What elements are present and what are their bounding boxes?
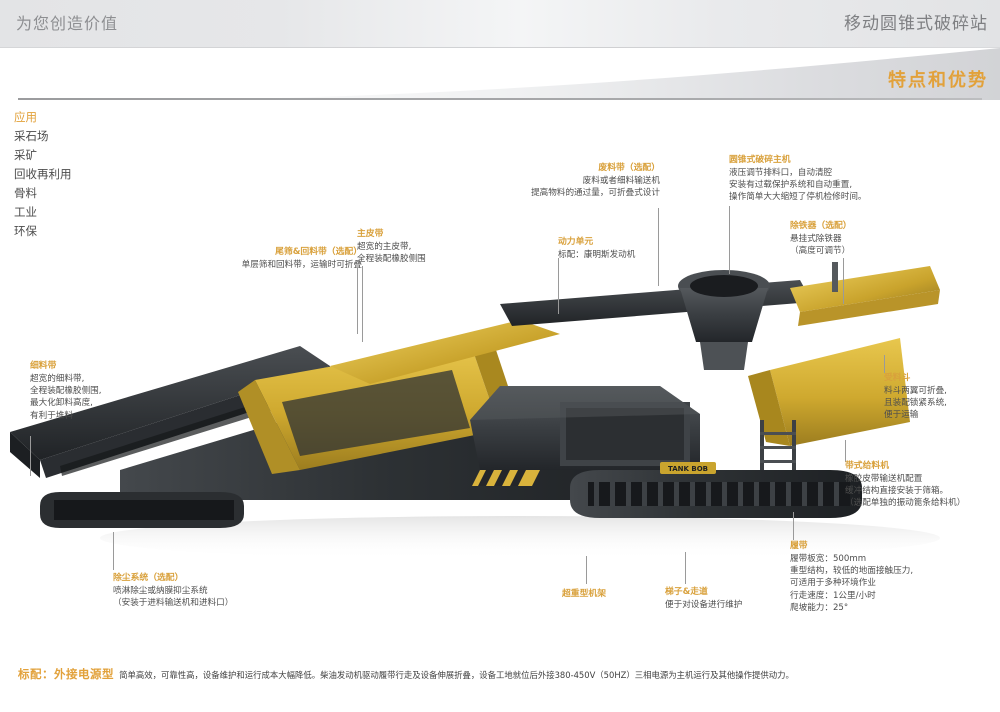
application-item-environment: 环保: [14, 222, 174, 241]
callout-tail-screen-line-1: 单层筛和回料带，运输时可折叠: [150, 259, 362, 271]
callout-track: 履带 履带板宽：500mm 重型结构，较低的地面接触压力, 可适用于多种环境作业…: [790, 540, 990, 614]
callout-waste-belt-line-1: 废料或者细料输送机: [448, 175, 660, 187]
iron-remover-graphic: [790, 262, 940, 326]
callout-fine-belt-line-4: 有利于堆料: [30, 410, 170, 422]
callout-dust-system: 除尘系统（选配） 喷淋除尘或纳膜抑尘系统 （安装于进料输送机和进料口）: [113, 572, 313, 609]
callout-power-unit-line-1: 标配：康明斯发动机: [558, 249, 708, 261]
screen-box-graphic: [238, 338, 520, 474]
watermark-text: www.tankbob.com: [173, 439, 266, 475]
footer-strong-label: 标配：外接电源型: [18, 667, 114, 681]
brand-badge-text: TANK BOB: [668, 465, 708, 473]
callout-fine-belt-title: 细料带: [30, 360, 170, 373]
callout-fine-belt-line-2: 全程装配橡胶侧围,: [30, 385, 170, 397]
callout-receiving-hopper-line-3: 便于运输: [884, 409, 1000, 421]
leader-line-frame: [586, 556, 587, 584]
callout-fine-belt: 细料带 超宽的细料带, 全程装配橡胶侧围, 最大化卸料高度, 有利于堆料: [30, 360, 170, 422]
hazard-stripe-graphic: [472, 470, 540, 486]
callout-receiving-hopper-title: 受料斗: [884, 372, 1000, 385]
applications-list: 应用 采石场 采矿 回收再利用 骨料 工业 环保: [14, 108, 174, 241]
callout-heavy-duty-frame-title: 超重型机架: [562, 588, 662, 601]
callout-track-line-3: 可适用于多种环境作业: [790, 577, 990, 589]
header-swoosh-decoration: [0, 48, 1000, 100]
callout-power-unit-title: 动力单元: [558, 236, 708, 249]
application-item-aggregate: 骨料: [14, 184, 174, 203]
callout-iron-remover: 除铁器（选配） 悬挂式除铁器 （高度可调节）: [790, 220, 970, 257]
callout-heavy-duty-frame: 超重型机架: [562, 588, 662, 601]
callout-main-belt-title: 主皮带: [357, 228, 497, 241]
chassis-graphic: [120, 416, 700, 500]
callout-dust-system-line-2: （安装于进料输送机和进料口）: [113, 597, 313, 609]
callout-fine-belt-line-1: 超宽的细料带,: [30, 373, 170, 385]
application-item-mining: 采矿: [14, 146, 174, 165]
callout-main-belt-line-2: 全程装配橡胶侧围: [357, 253, 497, 265]
callout-track-line-1: 履带板宽：500mm: [790, 553, 990, 565]
application-item-industry: 工业: [14, 203, 174, 222]
callout-cone-crusher-title: 圆锥式破碎主机: [729, 154, 959, 167]
callout-receiving-hopper-line-2: 且装配锁紧系统,: [884, 397, 1000, 409]
power-unit-graphic: [470, 386, 700, 470]
callout-ladder-walkway: 梯子&走道 便于对设备进行维护: [665, 586, 805, 611]
callout-track-title: 履带: [790, 540, 990, 553]
leader-line-track: [793, 512, 794, 540]
leader-line-tail-screen: [362, 266, 363, 342]
callout-cone-crusher-line-2: 安装有过载保护系统和自动重置,: [729, 179, 959, 191]
leader-line-dust-system: [113, 532, 114, 570]
callout-iron-remover-title: 除铁器（选配）: [790, 220, 970, 233]
callout-belt-feeder-title: 带式给料机: [845, 460, 1000, 473]
callout-belt-feeder-line-1: 橡胶皮带输送机配置: [845, 473, 1000, 485]
callout-cone-crusher-line-3: 操作简单大大缩短了停机检修时间。: [729, 191, 959, 203]
leader-line-iron-remover: [843, 258, 844, 304]
callout-waste-belt-line-2: 提高物料的通过量，可折叠式设计: [448, 187, 660, 199]
callout-belt-feeder-line-3: （选配单独的振动篦条给料机）: [845, 497, 1000, 509]
callout-belt-feeder-line-2: 缓冲结构直接安装于筛箱。: [845, 485, 1000, 497]
header-tagline: 为您创造价值: [16, 10, 118, 34]
application-item-quarry: 采石场: [14, 127, 174, 146]
brand-badge-graphic: TANK BOB: [660, 462, 716, 474]
page-title: 特点和优势: [888, 66, 988, 92]
callout-track-line-4: 行走速度：1公里/小时: [790, 590, 990, 602]
callout-dust-system-title: 除尘系统（选配）: [113, 572, 313, 585]
leader-line-main-belt: [357, 268, 358, 334]
left-support-track-graphic: [40, 492, 244, 528]
leader-line-cone-crusher: [729, 206, 730, 274]
ladder-walkway-graphic: [760, 420, 796, 494]
callout-iron-remover-line-2: （高度可调节）: [790, 245, 970, 257]
callout-waste-belt: 废料带（选配） 废料或者细料输送机 提高物料的通过量，可折叠式设计: [448, 162, 660, 199]
application-item-recycling: 回收再利用: [14, 165, 174, 184]
callout-ladder-walkway-line-1: 便于对设备进行维护: [665, 599, 805, 611]
callout-track-line-5: 爬坡能力：25°: [790, 602, 990, 614]
callout-cone-crusher-line-1: 液压调节排料口，自动清腔: [729, 167, 959, 179]
callout-main-belt: 主皮带 超宽的主皮带, 全程装配橡胶侧围: [357, 228, 497, 265]
callout-waste-belt-title: 废料带（选配）: [448, 162, 660, 175]
main-belt-graphic: [330, 280, 812, 384]
title-divider: [18, 98, 982, 100]
leader-line-power-unit: [558, 258, 559, 314]
slide-page: 为您创造价值 移动圆锥式破碎站 特点和优势 应用 采石场 采矿 回收再利用 骨料…: [0, 0, 1000, 712]
applications-heading: 应用: [14, 108, 174, 127]
callout-power-unit: 动力单元 标配：康明斯发动机: [558, 236, 708, 261]
callout-receiving-hopper: 受料斗 料斗两翼可折叠, 且装配锁紧系统, 便于运输: [884, 372, 1000, 422]
leader-line-fine-belt: [30, 436, 31, 476]
callout-track-line-2: 重型结构，较低的地面接触压力,: [790, 565, 990, 577]
callout-tail-screen: 尾筛&回料带（选配） 单层筛和回料带，运输时可折叠: [150, 246, 362, 271]
footer-note: 标配：外接电源型 简单高效，可靠性高，设备维护和运行成本大幅降低。柴油发动机驱动…: [18, 663, 988, 682]
leader-line-ladder: [685, 552, 686, 584]
callout-cone-crusher: 圆锥式破碎主机 液压调节排料口，自动清腔 安装有过载保护系统和自动重置, 操作简…: [729, 154, 959, 204]
cone-crusher-graphic: [678, 270, 770, 370]
product-title: 移动圆锥式破碎站: [844, 9, 988, 34]
callout-fine-belt-line-3: 最大化卸料高度,: [30, 397, 170, 409]
callout-main-belt-line-1: 超宽的主皮带,: [357, 241, 497, 253]
crawler-track-graphic: [570, 470, 862, 518]
footer-description: 简单高效，可靠性高，设备维护和运行成本大幅降低。柴油发动机驱动履带行走及设备伸展…: [119, 670, 794, 680]
callout-receiving-hopper-line-1: 料斗两翼可折叠,: [884, 385, 1000, 397]
callout-ladder-walkway-title: 梯子&走道: [665, 586, 805, 599]
callout-tail-screen-title: 尾筛&回料带（选配）: [150, 246, 362, 259]
swoosh-shape: [0, 48, 1000, 100]
callout-belt-feeder: 带式给料机 橡胶皮带输送机配置 缓冲结构直接安装于筛箱。 （选配单独的振动篦条给…: [845, 460, 1000, 510]
callout-dust-system-line-1: 喷淋除尘或纳膜抑尘系统: [113, 585, 313, 597]
callout-iron-remover-line-1: 悬挂式除铁器: [790, 233, 970, 245]
leader-line-hopper: [884, 355, 885, 373]
leader-line-belt-feeder: [845, 440, 846, 462]
